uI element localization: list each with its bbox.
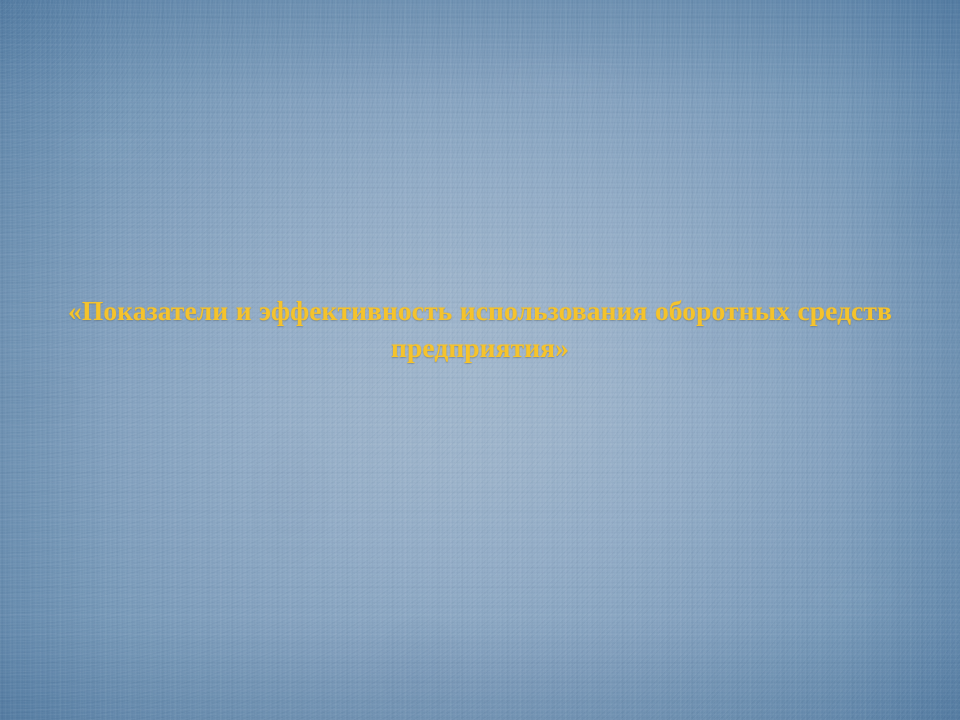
presentation-slide: «Показатели и эффективность использовани… [0, 0, 960, 720]
slide-title-block: «Показатели и эффективность использовани… [50, 292, 910, 366]
slide-title: «Показатели и эффективность использовани… [50, 292, 910, 366]
